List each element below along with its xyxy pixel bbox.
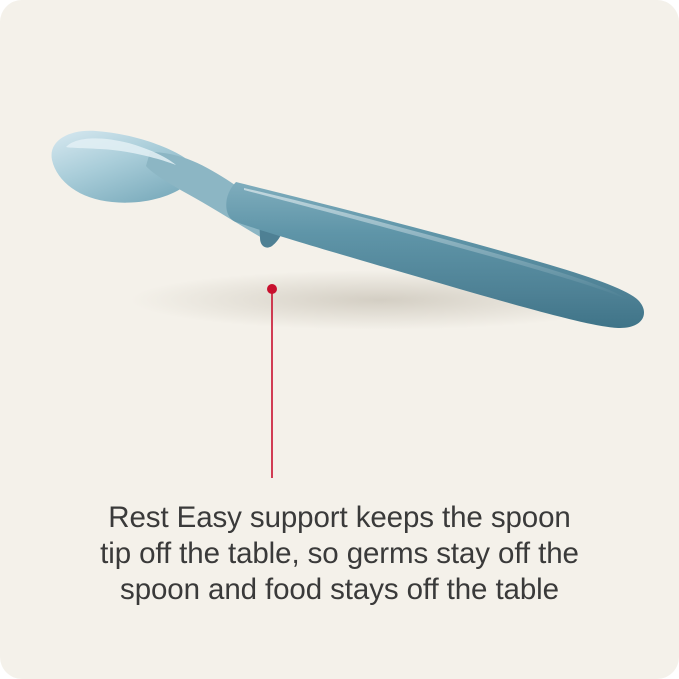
caption-line-2: tip off the table, so germs stay off the [38,536,641,572]
product-feature-card: Rest Easy support keeps the spoon tip of… [0,0,679,679]
caption-block: Rest Easy support keeps the spoon tip of… [0,500,679,608]
caption-line-3: spoon and food stays off the table [38,572,641,608]
caption-line-1: Rest Easy support keeps the spoon [38,500,641,536]
